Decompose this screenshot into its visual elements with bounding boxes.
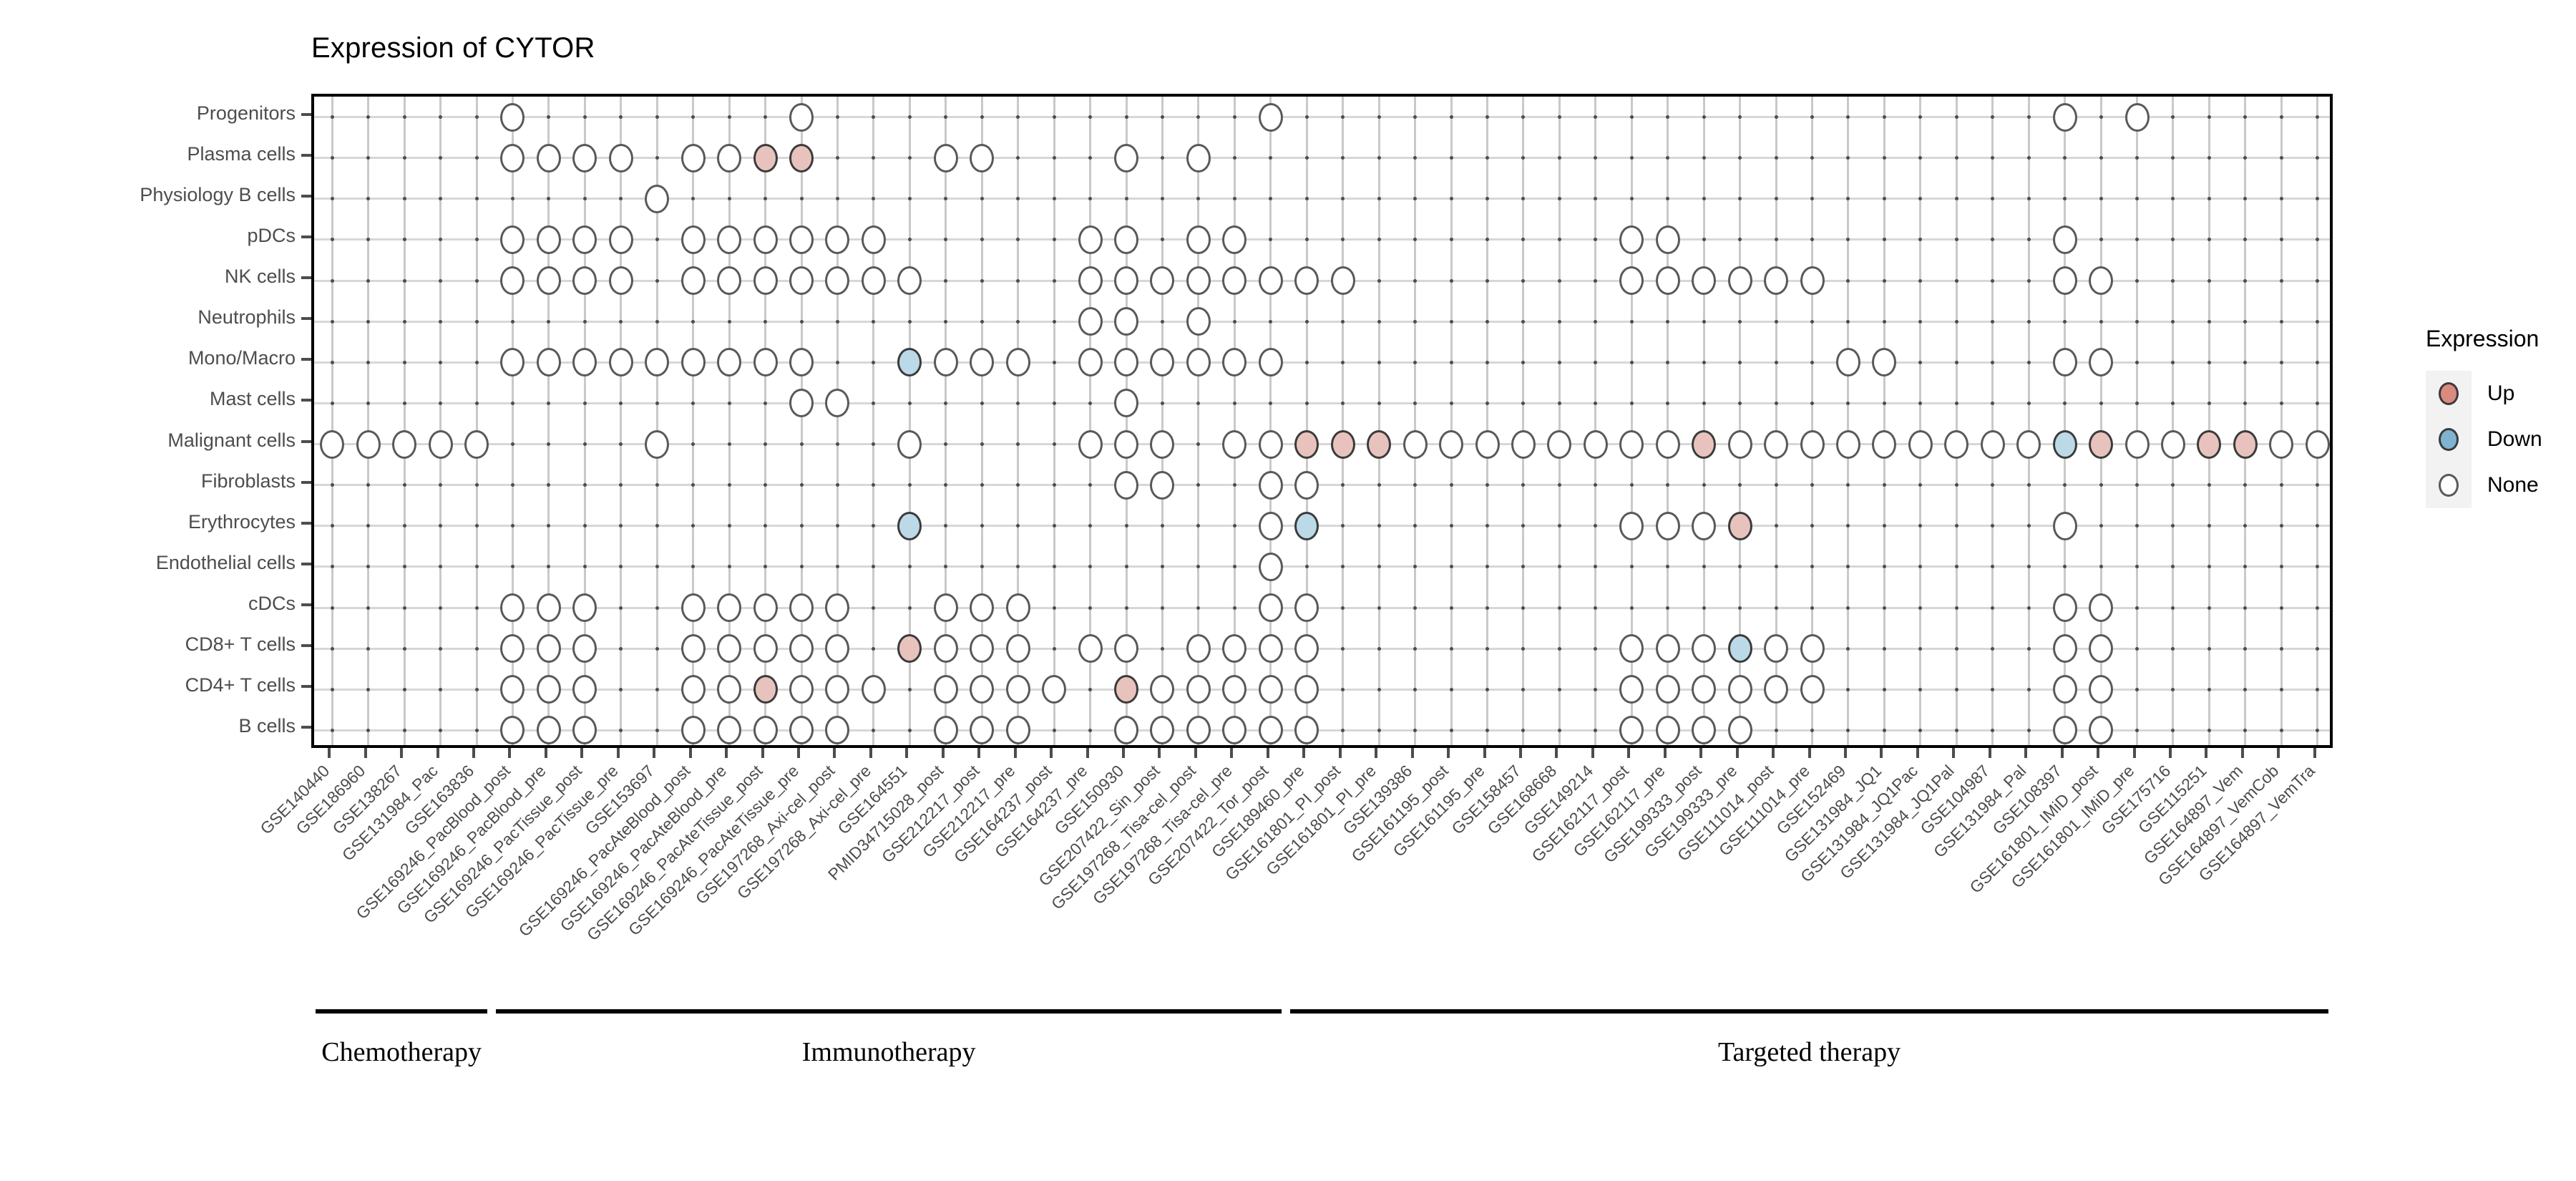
y-axis-tick	[301, 481, 311, 484]
x-axis-tick	[689, 748, 692, 758]
expression-dot[interactable]	[1222, 675, 1246, 704]
expression-dot[interactable]	[537, 348, 561, 376]
expression-dot[interactable]	[1981, 430, 2005, 459]
expression-dot[interactable]	[1656, 266, 1680, 295]
expression-dot[interactable]	[1150, 430, 1174, 459]
expression-dot[interactable]	[789, 675, 814, 704]
expression-dot[interactable]	[1294, 716, 1319, 744]
expression-dot[interactable]	[1006, 634, 1030, 663]
expression-dot[interactable]	[1259, 593, 1283, 622]
y-axis-label: B cells	[238, 715, 296, 737]
expression-dot[interactable]	[1006, 348, 1030, 376]
expression-dot[interactable]	[1150, 266, 1174, 295]
expression-dot[interactable]	[1222, 225, 1246, 254]
y-axis-label: pDCs	[247, 225, 296, 247]
expression-dot[interactable]	[645, 348, 669, 376]
expression-dot[interactable]	[897, 634, 922, 663]
expression-dot[interactable]	[1619, 430, 1644, 459]
therapy-group-label: Targeted therapy	[1290, 1036, 2328, 1068]
expression-dot[interactable]	[1331, 266, 1355, 295]
expression-dot[interactable]	[1150, 471, 1174, 500]
expression-dot[interactable]	[1222, 430, 1246, 459]
x-axis-tick	[1916, 748, 1919, 758]
expression-dot[interactable]	[1006, 716, 1030, 744]
expression-dot[interactable]	[789, 593, 814, 622]
expression-dot[interactable]	[1259, 430, 1283, 459]
expression-dot[interactable]	[2089, 348, 2113, 376]
expression-dot[interactable]	[1294, 471, 1319, 500]
expression-dot[interactable]	[1150, 348, 1174, 376]
expression-dot[interactable]	[897, 266, 922, 295]
legend-swatch	[2426, 417, 2472, 462]
y-axis-label: Mono/Macro	[188, 347, 296, 369]
expression-dot[interactable]	[1294, 634, 1319, 663]
expression-dot[interactable]	[1114, 266, 1138, 295]
expression-dot[interactable]	[2125, 103, 2150, 132]
expression-dot[interactable]	[753, 675, 778, 704]
expression-dot[interactable]	[1078, 634, 1103, 663]
expression-dot[interactable]	[1114, 389, 1138, 417]
expression-dot[interactable]	[753, 593, 778, 622]
expression-dot[interactable]	[789, 266, 814, 295]
expression-dot[interactable]	[537, 675, 561, 704]
expression-dot[interactable]	[825, 634, 849, 663]
expression-dot[interactable]	[717, 144, 741, 172]
x-axis-tick	[1375, 748, 1377, 758]
expression-dot[interactable]	[2306, 430, 2330, 459]
expression-dot[interactable]	[572, 634, 597, 663]
expression-dot[interactable]	[1764, 266, 1788, 295]
expression-dot[interactable]	[1728, 266, 1752, 295]
expression-dot[interactable]	[1764, 634, 1788, 663]
x-axis-tick	[1230, 748, 1233, 758]
expression-dot[interactable]	[2089, 716, 2113, 744]
expression-dot[interactable]	[2016, 430, 2041, 459]
expression-dot[interactable]	[1114, 225, 1138, 254]
expression-dot[interactable]	[1367, 430, 1391, 459]
expression-dot[interactable]	[2125, 430, 2150, 459]
x-axis-tick	[1483, 748, 1486, 758]
expression-dot[interactable]	[572, 675, 597, 704]
legend-item[interactable]: Down	[2426, 417, 2576, 462]
x-axis-tick	[508, 748, 511, 758]
expression-dot[interactable]	[1764, 675, 1788, 704]
expression-dot[interactable]	[2053, 430, 2077, 459]
expression-dot[interactable]	[1656, 512, 1680, 540]
expression-dot[interactable]	[825, 389, 849, 417]
expression-dot[interactable]	[862, 266, 886, 295]
expression-dot[interactable]	[2053, 593, 2077, 622]
y-axis-tick	[301, 685, 311, 688]
expression-dot[interactable]	[500, 675, 525, 704]
expression-dot[interactable]	[500, 348, 525, 376]
expression-dot[interactable]	[500, 144, 525, 172]
y-axis-tick	[301, 563, 311, 565]
x-axis-tick	[1736, 748, 1739, 758]
expression-dot[interactable]	[572, 225, 597, 254]
expression-dot[interactable]	[2089, 430, 2113, 459]
legend-item[interactable]: Up	[2426, 371, 2576, 417]
x-axis-tick	[761, 748, 764, 758]
expression-dot[interactable]	[1692, 430, 1716, 459]
x-axis-tick	[1086, 748, 1089, 758]
expression-dot[interactable]	[1186, 716, 1211, 744]
expression-dot[interactable]	[572, 144, 597, 172]
expression-dot[interactable]	[1294, 266, 1319, 295]
expression-dot[interactable]	[825, 266, 849, 295]
expression-dot[interactable]	[717, 593, 741, 622]
expression-dot[interactable]	[1800, 266, 1825, 295]
expression-dot[interactable]	[789, 103, 814, 132]
expression-dot[interactable]	[1619, 634, 1644, 663]
y-axis-tick	[301, 358, 311, 361]
expression-dot[interactable]	[572, 716, 597, 744]
y-axis-label: Neutrophils	[197, 306, 296, 329]
expression-dot[interactable]	[500, 225, 525, 254]
expression-dot[interactable]	[1186, 634, 1211, 663]
expression-dot[interactable]	[717, 634, 741, 663]
expression-dot[interactable]	[681, 348, 706, 376]
expression-dot[interactable]	[1294, 593, 1319, 622]
therapy-group-line	[316, 1009, 487, 1014]
expression-dot[interactable]	[1150, 716, 1174, 744]
expression-dot[interactable]	[825, 716, 849, 744]
expression-dot[interactable]	[1511, 430, 1536, 459]
expression-dot[interactable]	[1114, 716, 1138, 744]
expression-dot[interactable]	[500, 266, 525, 295]
expression-dot[interactable]	[320, 430, 344, 459]
expression-dot[interactable]	[1114, 307, 1138, 336]
expression-dot[interactable]	[2233, 430, 2258, 459]
expression-dot[interactable]	[1222, 716, 1246, 744]
expression-dot[interactable]	[897, 348, 922, 376]
expression-dot[interactable]	[2197, 430, 2221, 459]
expression-dot[interactable]	[2089, 634, 2113, 663]
expression-dot[interactable]	[2053, 675, 2077, 704]
x-axis-tick	[1447, 748, 1450, 758]
x-axis-tick	[617, 748, 620, 758]
expression-dot[interactable]	[1800, 430, 1825, 459]
x-axis-tick	[869, 748, 872, 758]
expression-dot[interactable]	[2053, 716, 2077, 744]
expression-dot[interactable]	[537, 716, 561, 744]
expression-dot[interactable]	[1619, 675, 1644, 704]
expression-dot[interactable]	[753, 716, 778, 744]
expression-dot[interactable]	[1114, 430, 1138, 459]
expression-dot[interactable]	[789, 225, 814, 254]
expression-dot[interactable]	[1656, 225, 1680, 254]
x-axis-tick	[1302, 748, 1305, 758]
x-axis-tick	[2133, 748, 2136, 758]
expression-dot[interactable]	[1259, 553, 1283, 581]
expression-dot[interactable]	[753, 348, 778, 376]
expression-dot[interactable]	[1186, 348, 1211, 376]
expression-dot[interactable]	[970, 348, 994, 376]
expression-dot[interactable]	[572, 348, 597, 376]
expression-dot[interactable]	[1331, 430, 1355, 459]
expression-dot[interactable]	[681, 716, 706, 744]
legend-swatch	[2426, 371, 2472, 417]
expression-dot[interactable]	[681, 225, 706, 254]
expression-dot[interactable]	[356, 430, 381, 459]
expression-dot[interactable]	[1078, 348, 1103, 376]
expression-dot[interactable]	[789, 389, 814, 417]
expression-dot[interactable]	[1872, 430, 1896, 459]
expression-dot[interactable]	[609, 225, 633, 254]
expression-dot[interactable]	[609, 348, 633, 376]
expression-dot[interactable]	[1728, 716, 1752, 744]
expression-dot[interactable]	[2089, 266, 2113, 295]
expression-dot[interactable]	[1259, 716, 1283, 744]
expression-dot[interactable]	[753, 144, 778, 172]
expression-dot[interactable]	[537, 634, 561, 663]
expression-dot[interactable]	[2089, 675, 2113, 704]
plot-panel	[311, 94, 2333, 748]
expression-dot[interactable]	[934, 716, 958, 744]
expression-dot[interactable]	[1294, 675, 1319, 704]
expression-dot[interactable]	[500, 103, 525, 132]
expression-dot[interactable]	[1186, 144, 1211, 172]
expression-dot[interactable]	[1186, 675, 1211, 704]
expression-dot[interactable]	[572, 593, 597, 622]
expression-dot[interactable]	[970, 144, 994, 172]
x-axis-tick	[1952, 748, 1955, 758]
expression-dot[interactable]	[1908, 430, 1933, 459]
expression-dot[interactable]	[609, 144, 633, 172]
expression-dot[interactable]	[681, 144, 706, 172]
expression-dot[interactable]	[1078, 307, 1103, 336]
y-axis-tick	[301, 726, 311, 729]
y-axis-label: CD8+ T cells	[185, 633, 296, 656]
expression-dot[interactable]	[1836, 348, 1860, 376]
expression-dot[interactable]	[825, 225, 849, 254]
expression-dot[interactable]	[825, 593, 849, 622]
expression-dot[interactable]	[681, 634, 706, 663]
x-axis-tick	[1844, 748, 1847, 758]
expression-dot[interactable]	[1114, 675, 1138, 704]
expression-dot[interactable]	[934, 675, 958, 704]
expression-dot[interactable]	[1259, 675, 1283, 704]
expression-dot[interactable]	[1259, 634, 1283, 663]
x-axis-tick	[1808, 748, 1811, 758]
expression-dot[interactable]	[1800, 675, 1825, 704]
expression-dot[interactable]	[934, 348, 958, 376]
y-axis-label: Physiology B cells	[140, 184, 296, 206]
expression-dot[interactable]	[897, 512, 922, 540]
expression-dot[interactable]	[537, 225, 561, 254]
expression-dot[interactable]	[1728, 512, 1752, 540]
expression-dot[interactable]	[789, 716, 814, 744]
expression-dot[interactable]	[1800, 634, 1825, 663]
expression-dot[interactable]	[789, 144, 814, 172]
expression-dot[interactable]	[2053, 103, 2077, 132]
x-axis-tick	[1772, 748, 1775, 758]
expression-dot[interactable]	[825, 675, 849, 704]
expression-dot[interactable]	[537, 144, 561, 172]
expression-dot[interactable]	[753, 634, 778, 663]
expression-dot[interactable]	[753, 266, 778, 295]
x-axis-tick	[1989, 748, 1991, 758]
expression-dot[interactable]	[1114, 348, 1138, 376]
expression-dot[interactable]	[1692, 266, 1716, 295]
expression-dot[interactable]	[2269, 430, 2293, 459]
expression-dot[interactable]	[1764, 430, 1788, 459]
y-axis-label: Mast cells	[210, 388, 296, 410]
expression-dot[interactable]	[681, 675, 706, 704]
expression-dot[interactable]	[537, 593, 561, 622]
expression-dot[interactable]	[645, 430, 669, 459]
expression-dot[interactable]	[1692, 634, 1716, 663]
x-axis-tick	[1591, 748, 1594, 758]
expression-dot[interactable]	[1692, 675, 1716, 704]
x-axis-tick	[472, 748, 475, 758]
expression-dot[interactable]	[862, 675, 886, 704]
expression-dot[interactable]	[1078, 225, 1103, 254]
expression-dot[interactable]	[572, 266, 597, 295]
expression-dot[interactable]	[862, 225, 886, 254]
expression-dot[interactable]	[1692, 512, 1716, 540]
expression-dot[interactable]	[1728, 634, 1752, 663]
expression-dot[interactable]	[717, 266, 741, 295]
expression-dot[interactable]	[1728, 430, 1752, 459]
expression-dot[interactable]	[1619, 716, 1644, 744]
y-axis-tick	[301, 522, 311, 525]
y-axis-label: Fibroblasts	[201, 470, 296, 492]
expression-dot[interactable]	[1078, 266, 1103, 295]
y-axis-tick	[301, 276, 311, 279]
expression-dot[interactable]	[1656, 430, 1680, 459]
expression-dot[interactable]	[1619, 512, 1644, 540]
x-axis-tick	[1519, 748, 1522, 758]
expression-dot[interactable]	[1656, 634, 1680, 663]
expression-dot[interactable]	[1584, 430, 1608, 459]
expression-dot[interactable]	[934, 593, 958, 622]
expression-dot[interactable]	[2053, 225, 2077, 254]
y-axis-tick	[301, 113, 311, 116]
expression-dot[interactable]	[1294, 512, 1319, 540]
expression-dot[interactable]	[717, 225, 741, 254]
x-axis-tick	[1555, 748, 1558, 758]
expression-dot[interactable]	[2053, 266, 2077, 295]
expression-dot[interactable]	[1114, 634, 1138, 663]
x-axis-tick	[2169, 748, 2172, 758]
expression-dot[interactable]	[1403, 430, 1428, 459]
y-axis-tick	[301, 440, 311, 443]
expression-dot[interactable]	[970, 634, 994, 663]
expression-dot[interactable]	[789, 348, 814, 376]
expression-dot[interactable]	[681, 266, 706, 295]
x-axis-tick	[725, 748, 728, 758]
expression-dot[interactable]	[789, 634, 814, 663]
expression-dot[interactable]	[500, 634, 525, 663]
expression-dot[interactable]	[1006, 675, 1030, 704]
therapy-group-label: Immunotherapy	[496, 1036, 1282, 1068]
expression-dot[interactable]	[717, 675, 741, 704]
expression-dot[interactable]	[1294, 430, 1319, 459]
expression-dot[interactable]	[1186, 266, 1211, 295]
expression-dot[interactable]	[609, 266, 633, 295]
expression-dot[interactable]	[1872, 348, 1896, 376]
expression-dot[interactable]	[1728, 675, 1752, 704]
expression-dot[interactable]	[500, 716, 525, 744]
expression-dot[interactable]	[429, 430, 453, 459]
expression-dot[interactable]	[1656, 675, 1680, 704]
x-axis-tick	[1411, 748, 1414, 758]
x-axis-tick	[2061, 748, 2064, 758]
expression-dot[interactable]	[537, 266, 561, 295]
expression-dot[interactable]	[1259, 103, 1283, 132]
expression-dot[interactable]	[500, 593, 525, 622]
expression-dot[interactable]	[1186, 307, 1211, 336]
y-axis-label: Plasma cells	[187, 143, 296, 165]
x-axis-tick	[436, 748, 439, 758]
expression-dot[interactable]	[1222, 348, 1246, 376]
expression-dot[interactable]	[2053, 512, 2077, 540]
expression-dot[interactable]	[2053, 348, 2077, 376]
expression-dot[interactable]	[934, 634, 958, 663]
expression-dot[interactable]	[2053, 634, 2077, 663]
expression-dot[interactable]	[1619, 225, 1644, 254]
y-axis-tick	[301, 195, 311, 198]
expression-dot[interactable]	[970, 675, 994, 704]
expression-dot[interactable]	[464, 430, 489, 459]
expression-dot[interactable]	[1475, 430, 1500, 459]
expression-dot[interactable]	[1114, 144, 1138, 172]
expression-dot[interactable]	[1222, 634, 1246, 663]
expression-dot[interactable]	[1150, 675, 1174, 704]
expression-dot[interactable]	[1114, 471, 1138, 500]
expression-dot[interactable]	[753, 225, 778, 254]
expression-dot[interactable]	[1186, 225, 1211, 254]
y-axis-tick	[301, 317, 311, 320]
expression-dot[interactable]	[1944, 430, 1968, 459]
expression-dot[interactable]	[645, 185, 669, 213]
expression-dot[interactable]	[1547, 430, 1571, 459]
expression-dot[interactable]	[1836, 430, 1860, 459]
expression-dot[interactable]	[1439, 430, 1463, 459]
expression-dot[interactable]	[2089, 593, 2113, 622]
expression-dot[interactable]	[1692, 716, 1716, 744]
x-axis-tick	[1627, 748, 1630, 758]
expression-dot[interactable]	[1078, 430, 1103, 459]
expression-dot[interactable]	[934, 144, 958, 172]
expression-dot[interactable]	[970, 593, 994, 622]
legend-item[interactable]: None	[2426, 462, 2576, 508]
x-axis-tick	[2277, 748, 2280, 758]
expression-dot[interactable]	[1619, 266, 1644, 295]
x-axis-tick	[1158, 748, 1161, 758]
expression-dot[interactable]	[970, 716, 994, 744]
expression-dot[interactable]	[1259, 512, 1283, 540]
x-axis-tick	[2313, 748, 2316, 758]
expression-dot[interactable]	[717, 716, 741, 744]
expression-dot[interactable]	[1259, 348, 1283, 376]
expression-dot[interactable]	[1259, 471, 1283, 500]
therapy-group-line	[1290, 1009, 2328, 1014]
expression-dot[interactable]	[1259, 266, 1283, 295]
expression-dot[interactable]	[2161, 430, 2185, 459]
expression-dot[interactable]	[897, 430, 922, 459]
expression-dot[interactable]	[717, 348, 741, 376]
dot-layer	[314, 97, 2330, 745]
expression-dot[interactable]	[681, 593, 706, 622]
expression-dot[interactable]	[1006, 593, 1030, 622]
expression-dot[interactable]	[1656, 716, 1680, 744]
expression-dot[interactable]	[392, 430, 416, 459]
expression-dot[interactable]	[1222, 266, 1246, 295]
expression-dot[interactable]	[1042, 675, 1066, 704]
x-axis-tick	[328, 748, 331, 758]
